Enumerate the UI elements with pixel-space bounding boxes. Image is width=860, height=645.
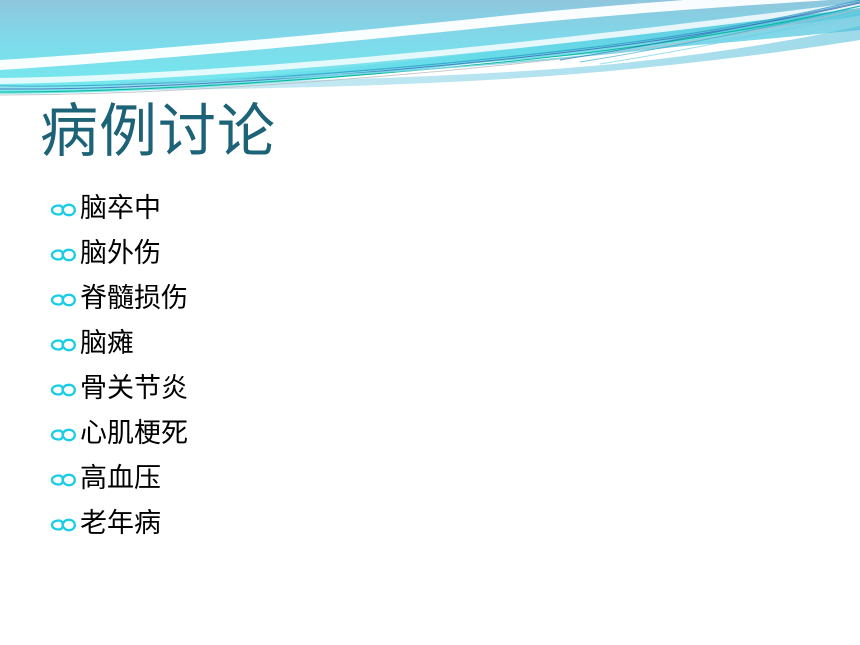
list-item: 高血压 xyxy=(48,456,748,501)
swirl-bullet-icon xyxy=(48,375,78,405)
list-item-label: 脑卒中 xyxy=(80,186,161,231)
accent-line-corner-3 xyxy=(600,12,860,64)
wave-primary-fill xyxy=(0,0,860,86)
page-title: 病例讨论 xyxy=(40,98,276,164)
content-bullet-list: 脑卒中 脑外伤 xyxy=(48,186,748,546)
list-item: 心肌梗死 xyxy=(48,411,748,456)
flow-theme-wave-banner xyxy=(0,0,860,110)
wave-white-gap-lower xyxy=(0,2,860,84)
wave-secondary-band xyxy=(0,6,860,94)
swirl-bullet-icon xyxy=(48,285,78,315)
list-item-label: 骨关节炎 xyxy=(80,366,188,411)
list-item: 脊髓损伤 xyxy=(48,276,748,321)
accent-line-grey xyxy=(0,9,860,95)
accent-line-cyan xyxy=(120,16,860,83)
wave-right-ribbon xyxy=(120,0,860,90)
accent-line-blue xyxy=(0,3,860,89)
accent-line-teal xyxy=(0,0,860,86)
accent-line-green xyxy=(0,6,860,92)
list-item-label: 高血压 xyxy=(80,456,161,501)
wave-shapes xyxy=(0,0,860,95)
list-item-label: 心肌梗死 xyxy=(80,411,188,456)
list-item-label: 脊髓损伤 xyxy=(80,276,188,321)
list-item: 老年病 xyxy=(48,501,748,546)
wave-white-gap-upper xyxy=(0,0,860,70)
list-item-label: 脑瘫 xyxy=(80,321,134,366)
list-item: 脑瘫 xyxy=(48,321,748,366)
list-item: 脑卒中 xyxy=(48,186,748,231)
accent-line-corner-1 xyxy=(560,2,860,60)
swirl-bullet-icon xyxy=(48,330,78,360)
list-item-label: 脑外伤 xyxy=(80,231,161,276)
swirl-bullet-icon xyxy=(48,195,78,225)
presentation-slide: 病例讨论 脑卒中 xyxy=(0,0,860,645)
swirl-bullet-icon xyxy=(48,465,78,495)
swirl-bullet-icon xyxy=(48,240,78,270)
swirl-bullet-icon xyxy=(48,510,78,540)
list-item: 脑外伤 xyxy=(48,231,748,276)
list-item-label: 老年病 xyxy=(80,501,161,546)
swirl-bullet-icon xyxy=(48,420,78,450)
accent-line-corner-2 xyxy=(580,6,860,62)
list-item: 骨关节炎 xyxy=(48,366,748,411)
